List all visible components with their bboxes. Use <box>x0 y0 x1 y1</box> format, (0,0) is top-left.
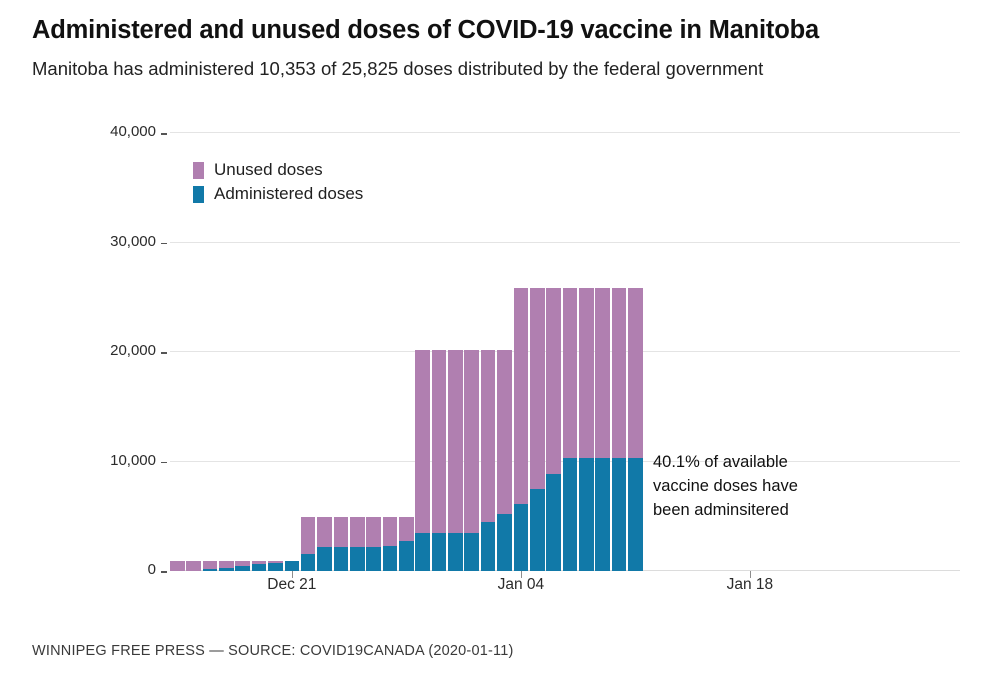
bar-segment-administered[interactable] <box>628 458 643 571</box>
bar-segment-unused[interactable] <box>219 561 234 568</box>
bar-column[interactable] <box>579 288 594 571</box>
bar-column[interactable] <box>612 288 627 571</box>
bar-segment-administered[interactable] <box>563 458 578 571</box>
y-tick-mark-10000 <box>161 462 167 464</box>
bar-segment-administered[interactable] <box>579 458 594 571</box>
bar-column[interactable] <box>595 288 610 571</box>
bar-segment-unused[interactable] <box>563 288 578 457</box>
bar-segment-administered[interactable] <box>595 458 610 571</box>
bar-column[interactable] <box>628 288 643 571</box>
bar-segment-administered[interactable] <box>612 458 627 571</box>
source-note: WINNIPEG FREE PRESS — SOURCE: COVID19CAN… <box>32 643 514 659</box>
y-tick-label-40000: 40,000 <box>48 123 156 140</box>
bar-column[interactable] <box>334 517 349 571</box>
y-tick-mark-40000 <box>161 133 167 135</box>
bar-segment-administered[interactable] <box>415 533 430 571</box>
bar-column[interactable] <box>203 561 218 571</box>
bar-segment-unused[interactable] <box>301 517 316 554</box>
bar-segment-administered[interactable] <box>514 504 529 571</box>
y-tick-label-20000: 20,000 <box>48 342 156 359</box>
bar-segment-unused[interactable] <box>464 350 479 532</box>
bar-column[interactable] <box>268 561 283 571</box>
bar-segment-administered[interactable] <box>464 533 479 571</box>
bar-segment-unused[interactable] <box>334 517 349 547</box>
bar-column[interactable] <box>497 350 512 571</box>
bar-column[interactable] <box>383 517 398 571</box>
y-tick-mark-30000 <box>161 243 167 245</box>
y-tick-mark-0 <box>161 571 167 573</box>
bar-column[interactable] <box>563 288 578 571</box>
y-tick-label-10000: 10,000 <box>48 452 156 469</box>
bar-column[interactable] <box>219 561 234 571</box>
bar-column[interactable] <box>448 350 463 571</box>
legend-label-unused: Unused doses <box>214 160 323 180</box>
bar-column[interactable] <box>235 561 250 571</box>
bar-column[interactable] <box>252 561 267 571</box>
bar-segment-administered[interactable] <box>203 569 218 571</box>
bar-segment-administered[interactable] <box>301 554 316 571</box>
x-tick-label-0: Dec 21 <box>267 576 316 594</box>
x-tick-label-1: Jan 04 <box>498 576 545 594</box>
annotation-line-1: 40.1% of available <box>653 450 853 474</box>
gridline-40000 <box>170 132 960 133</box>
legend-swatch-administered-icon <box>193 186 204 203</box>
bar-segment-unused[interactable] <box>612 288 627 457</box>
bar-segment-administered[interactable] <box>383 546 398 571</box>
bar-segment-unused[interactable] <box>628 288 643 457</box>
annotation-line-2: vaccine doses have <box>653 474 853 498</box>
bar-segment-unused[interactable] <box>497 350 512 513</box>
bar-segment-administered[interactable] <box>235 566 250 571</box>
bar-column[interactable] <box>530 288 545 571</box>
bar-segment-administered[interactable] <box>219 568 234 571</box>
bar-segment-unused[interactable] <box>350 517 365 547</box>
bar-segment-unused[interactable] <box>579 288 594 457</box>
chart-legend: Unused doses Administered doses <box>193 158 363 206</box>
bar-column[interactable] <box>514 288 529 571</box>
chart-annotation: 40.1% of available vaccine doses have be… <box>653 450 853 522</box>
bar-segment-unused[interactable] <box>448 350 463 532</box>
x-tick-label-2: Jan 18 <box>727 576 774 594</box>
bar-column[interactable] <box>464 350 479 571</box>
bar-column[interactable] <box>399 517 414 571</box>
bar-segment-administered[interactable] <box>481 522 496 571</box>
bar-segment-unused[interactable] <box>366 517 381 547</box>
bar-segment-unused[interactable] <box>170 561 185 571</box>
bar-column[interactable] <box>350 517 365 571</box>
bar-column[interactable] <box>481 350 496 571</box>
bar-segment-unused[interactable] <box>186 561 201 571</box>
legend-swatch-unused-icon <box>193 162 204 179</box>
bar-segment-unused[interactable] <box>383 517 398 545</box>
chart-page: Administered and unused doses of COVID-1… <box>0 0 1000 692</box>
bar-segment-unused[interactable] <box>203 561 218 569</box>
y-tick-mark-20000 <box>161 352 167 354</box>
bar-segment-administered[interactable] <box>317 547 332 571</box>
bar-column[interactable] <box>285 561 300 571</box>
bar-segment-unused[interactable] <box>481 350 496 522</box>
page-title: Administered and unused doses of COVID-1… <box>32 16 982 45</box>
gridline-30000 <box>170 242 960 243</box>
bar-segment-administered[interactable] <box>334 547 349 571</box>
chart-subtitle: Manitoba has administered 10,353 of 25,8… <box>32 58 987 80</box>
bar-segment-unused[interactable] <box>399 517 414 541</box>
bar-segment-administered[interactable] <box>366 547 381 571</box>
bar-segment-unused[interactable] <box>317 517 332 547</box>
bar-column[interactable] <box>317 517 332 571</box>
bar-column[interactable] <box>186 561 201 571</box>
bar-segment-administered[interactable] <box>432 533 447 571</box>
y-tick-label-0: 0 <box>48 561 156 578</box>
bar-segment-unused[interactable] <box>415 350 430 533</box>
bar-segment-administered[interactable] <box>399 541 414 571</box>
bar-segment-unused[interactable] <box>595 288 610 457</box>
bar-segment-administered[interactable] <box>530 489 545 571</box>
bar-column[interactable] <box>366 517 381 571</box>
legend-item-administered[interactable]: Administered doses <box>193 182 363 206</box>
legend-label-administered: Administered doses <box>214 184 363 204</box>
bar-segment-administered[interactable] <box>350 547 365 571</box>
bar-segment-administered[interactable] <box>497 514 512 571</box>
bar-segment-administered[interactable] <box>546 474 561 571</box>
bar-column[interactable] <box>301 517 316 571</box>
bar-segment-unused[interactable] <box>432 350 447 532</box>
bar-segment-administered[interactable] <box>268 563 283 571</box>
bar-column[interactable] <box>170 561 185 571</box>
footer-divider <box>0 618 1000 619</box>
bar-segment-administered[interactable] <box>448 533 463 571</box>
bar-segment-unused[interactable] <box>514 288 529 503</box>
bar-column[interactable] <box>415 350 430 571</box>
bar-column[interactable] <box>432 350 447 571</box>
annotation-line-3: been adminsitered <box>653 498 853 522</box>
bar-segment-unused[interactable] <box>546 288 561 474</box>
bar-segment-unused[interactable] <box>530 288 545 489</box>
bar-segment-administered[interactable] <box>252 564 267 571</box>
y-tick-label-30000: 30,000 <box>48 233 156 250</box>
legend-item-unused[interactable]: Unused doses <box>193 158 363 182</box>
bar-column[interactable] <box>546 288 561 571</box>
bar-segment-administered[interactable] <box>285 561 300 571</box>
